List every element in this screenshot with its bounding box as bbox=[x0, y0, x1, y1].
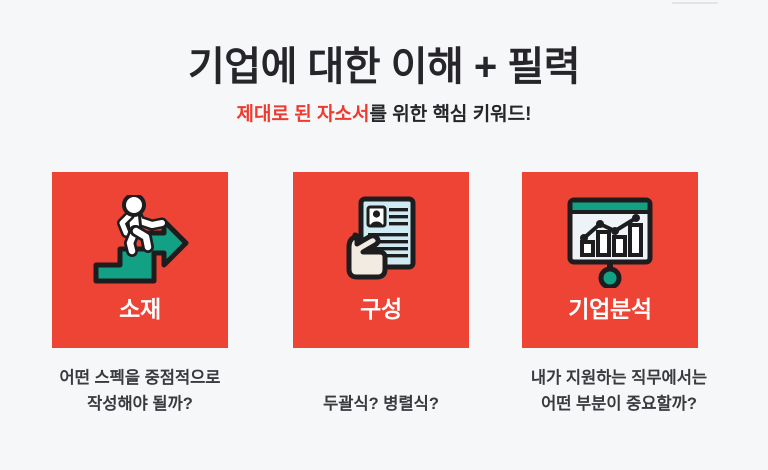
subtitle-rest: 를 위한 핵심 키워드! bbox=[369, 104, 531, 125]
card-label: 소재 bbox=[119, 298, 161, 321]
hand-holding-resume-icon bbox=[329, 194, 433, 290]
person-climbing-stairs-arrow-icon bbox=[88, 194, 192, 290]
caption-soJae: 어떤 스펙을 중점적으로 작성해야 될까? bbox=[20, 366, 260, 417]
caption-line-2: 작성해야 될까? bbox=[20, 392, 260, 418]
caption-line-1: 내가 지원하는 직무에서는 bbox=[490, 366, 748, 392]
top-edge-divider bbox=[672, 2, 718, 4]
page-subtitle: 제대로 된 자소서를 위한 핵심 키워드! bbox=[0, 104, 768, 127]
headline-block: 기업에 대한 이해 + 필력 제대로 된 자소서를 위한 핵심 키워드! bbox=[0, 44, 768, 127]
card-label: 기업분석 bbox=[568, 298, 651, 321]
card-label: 구성 bbox=[360, 298, 402, 321]
caption-line-1: 어떤 스펙을 중점적으로 bbox=[20, 366, 260, 392]
caption-row: 어떤 스펙을 중점적으로 작성해야 될까? 두괄식? 병렬식? 내가 지원하는 … bbox=[0, 366, 768, 436]
caption-giEopBunSeok: 내가 지원하는 직무에서는 어떤 부분이 중요할까? bbox=[490, 366, 748, 417]
card-giEopBunSeok[interactable]: 기업분석 bbox=[522, 172, 698, 348]
slide-canvas: 기업에 대한 이해 + 필력 제대로 된 자소서를 위한 핵심 키워드! bbox=[0, 0, 768, 470]
card-guSeong[interactable]: 구성 bbox=[293, 172, 469, 348]
card-soJae[interactable]: 소재 bbox=[52, 172, 228, 348]
subtitle-highlight: 제대로 된 자소서 bbox=[237, 104, 370, 125]
page-title: 기업에 대한 이해 + 필력 bbox=[0, 44, 768, 90]
caption-line-2: 어떤 부분이 중요할까? bbox=[490, 392, 748, 418]
presentation-bar-chart-icon bbox=[558, 194, 662, 290]
caption-line-1: 두괄식? 병렬식? bbox=[261, 392, 501, 418]
caption-guSeong: 두괄식? 병렬식? bbox=[261, 392, 501, 418]
card-row: 소재 bbox=[52, 172, 698, 348]
